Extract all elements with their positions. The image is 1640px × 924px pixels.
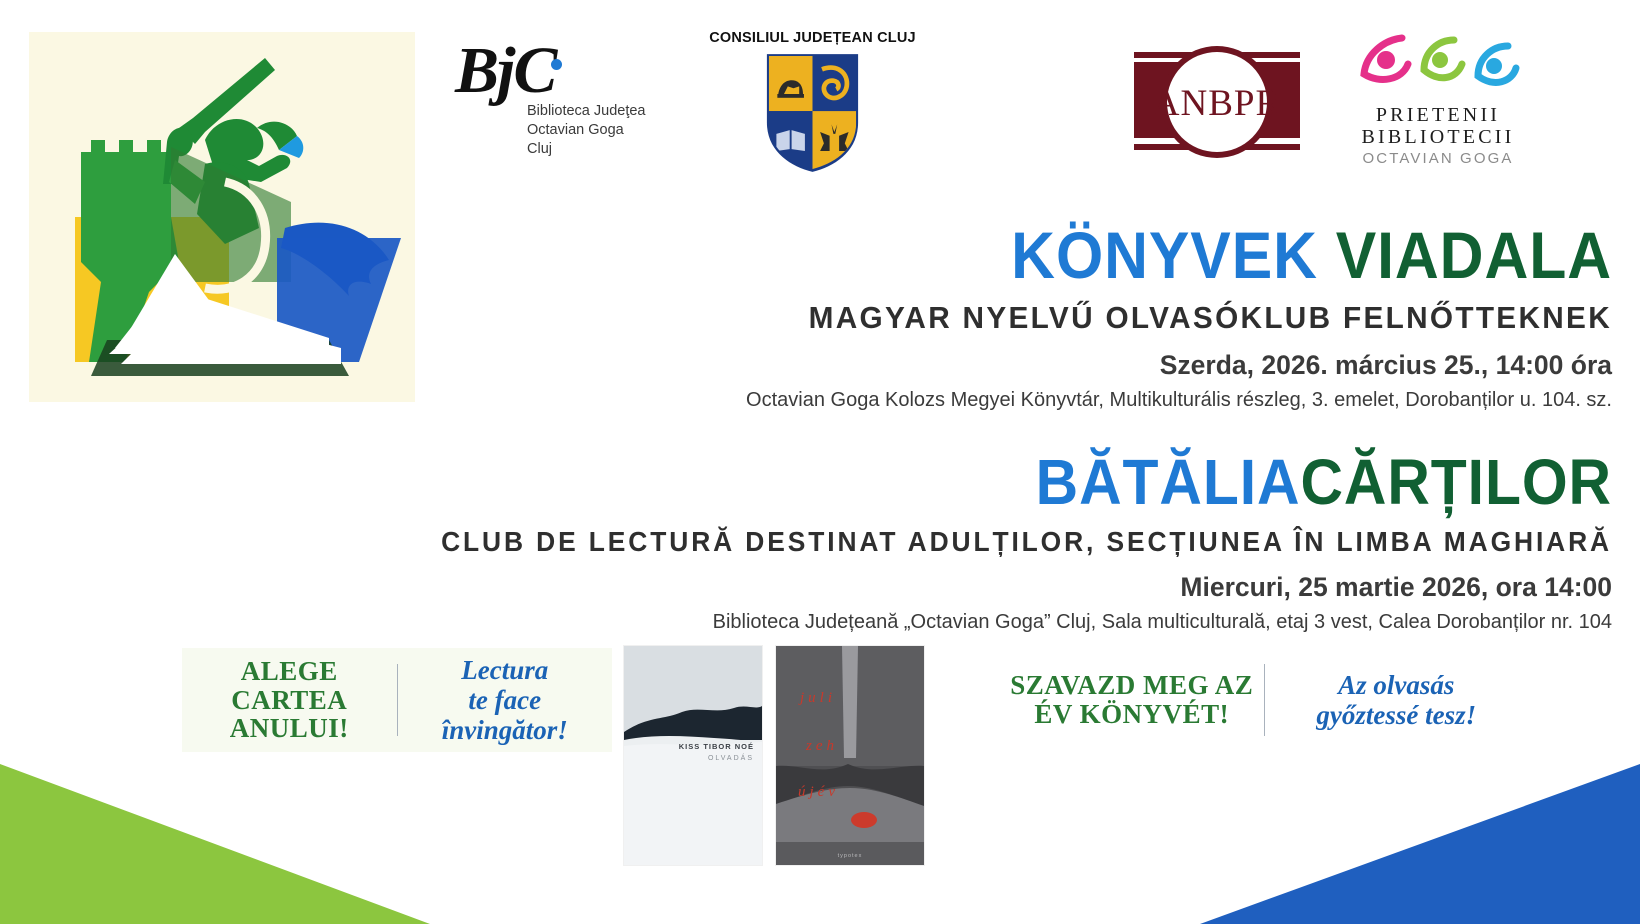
slogan-ro-line3: ANULUI! <box>230 714 349 743</box>
book1-author: KISS TIBOR NOÉ <box>679 742 754 751</box>
slogan-szavazd-meg-az-ev-konyvet: SZAVAZD MEG AZ ÉV KÖNYVÉT! <box>1000 671 1264 728</box>
slogan-ro-script-line3: învingător! <box>442 715 568 745</box>
romanian-section: BĂTĂLIACĂRȚILOR CLUB DE LECTURĂ DESTINAT… <box>392 450 1612 634</box>
slogan-ro-line2: CARTEA <box>230 686 349 715</box>
anbpr-icon: ANBPR <box>1125 36 1310 176</box>
slogan-card-romanian: ALEGE CARTEA ANULUI! Lectura te face înv… <box>182 648 612 752</box>
slogan-ro-script-line1: Lectura <box>442 655 568 685</box>
book-cover-ujev: juli zeh újév typotex <box>776 646 924 865</box>
slogan-hu-line2: ÉV KÖNYVÉT! <box>1010 700 1253 729</box>
knight-icon <box>29 32 415 402</box>
book2-publisher: typotex <box>838 853 863 859</box>
romanian-title-word2: CĂRȚILOR <box>1300 446 1612 518</box>
romanian-title-word1: BĂTĂLIA <box>1036 446 1301 518</box>
logo-prietenii-bibliotecii: PRIETENII BIBLIOTECII OCTAVIAN GOGA <box>1348 30 1528 190</box>
slogan-ro-line1: ALEGE <box>230 657 349 686</box>
hungarian-date: Szerda, 2026. március 25., 14:00 óra <box>392 350 1612 381</box>
bjc-subtitle: Biblioteca Judeţea Octavian Goga Cluj <box>527 102 646 159</box>
romanian-address: Biblioteca Județeană „Octavian Goga” Clu… <box>392 611 1612 634</box>
logo-anbpr: ANBPR <box>1125 36 1310 176</box>
romanian-subtitle: CLUB DE LECTURĂ DESTINAT ADULȚILOR, SECȚ… <box>441 526 1612 558</box>
slogan-az-olvasas-gyoztesse-tesz: Az olvasás győztessé tesz! <box>1265 670 1529 730</box>
county-council-title: CONSILIUL JUDEȚEAN CLUJ <box>690 30 935 46</box>
book2-author-line1: juli <box>800 690 836 707</box>
hungarian-title: KÖNYVEK VIADALA <box>490 222 1612 288</box>
three-figures-icon <box>1350 30 1526 96</box>
hungarian-subtitle: MAGYAR NYELVŰ OLVASÓKLUB FELNŐTTEKNEK <box>441 300 1612 336</box>
slogan-card-hungarian: SZAVAZD MEG AZ ÉV KÖNYVÉT! Az olvasás gy… <box>1000 648 1528 752</box>
slogan-alege-cartea-anului: ALEGE CARTEA ANULUI! <box>182 657 397 743</box>
knight-illustration <box>29 32 415 402</box>
county-shield-icon <box>765 52 860 174</box>
prietenii-line2: BIBLIOTECII <box>1348 127 1528 149</box>
slogan-hu-script-line1: Az olvasás <box>1316 670 1476 700</box>
bjc-monogram: BjC <box>455 34 555 107</box>
svg-text:ANBPR: ANBPR <box>1153 83 1281 124</box>
slogan-ro-script-line2: te face <box>442 685 568 715</box>
romanian-title: BĂTĂLIACĂRȚILOR <box>490 450 1612 514</box>
poster-canvas: BjC Biblioteca Judeţea Octavian Goga Clu… <box>0 0 1640 924</box>
bjc-subtitle-line2: Octavian Goga <box>527 121 646 140</box>
logo-county-council: CONSILIUL JUDEȚEAN CLUJ <box>690 30 935 190</box>
hungarian-title-word1: KÖNYVEK <box>1011 218 1318 292</box>
slogan-hu-line1: SZAVAZD MEG AZ <box>1010 671 1253 700</box>
hungarian-title-word2: VIADALA <box>1336 218 1612 292</box>
book-cover-olvadas: KISS TIBOR NOÉ OLVADÁS <box>624 646 762 865</box>
corner-decoration-right <box>1200 764 1640 924</box>
book2-artwork-icon <box>776 646 924 865</box>
book2-title: újév <box>798 784 839 801</box>
bjc-dot-icon <box>551 59 562 70</box>
book1-text: KISS TIBOR NOÉ OLVADÁS <box>679 742 754 762</box>
slogan-lectura-te-face-invingator: Lectura te face învingător! <box>398 655 613 746</box>
hungarian-address: Octavian Goga Kolozs Megyei Könyvtár, Mu… <box>392 389 1612 412</box>
bjc-subtitle-line1: Biblioteca Judeţea <box>527 102 646 121</box>
prietenii-line3: OCTAVIAN GOGA <box>1348 150 1528 168</box>
romanian-date: Miercuri, 25 martie 2026, ora 14:00 <box>392 572 1612 603</box>
book1-title: OLVADÁS <box>679 755 754 762</box>
book2-author-line2: zeh <box>806 738 838 755</box>
prietenii-line1: PRIETENII <box>1348 105 1528 127</box>
bjc-subtitle-line3: Cluj <box>527 140 646 159</box>
logo-bjc: BjC Biblioteca Judeţea Octavian Goga Clu… <box>455 38 670 178</box>
slogan-hu-script-line2: győztessé tesz! <box>1316 700 1476 730</box>
hungarian-section: KÖNYVEK VIADALA MAGYAR NYELVŰ OLVASÓKLUB… <box>392 222 1612 412</box>
corner-decoration-left <box>0 764 430 924</box>
